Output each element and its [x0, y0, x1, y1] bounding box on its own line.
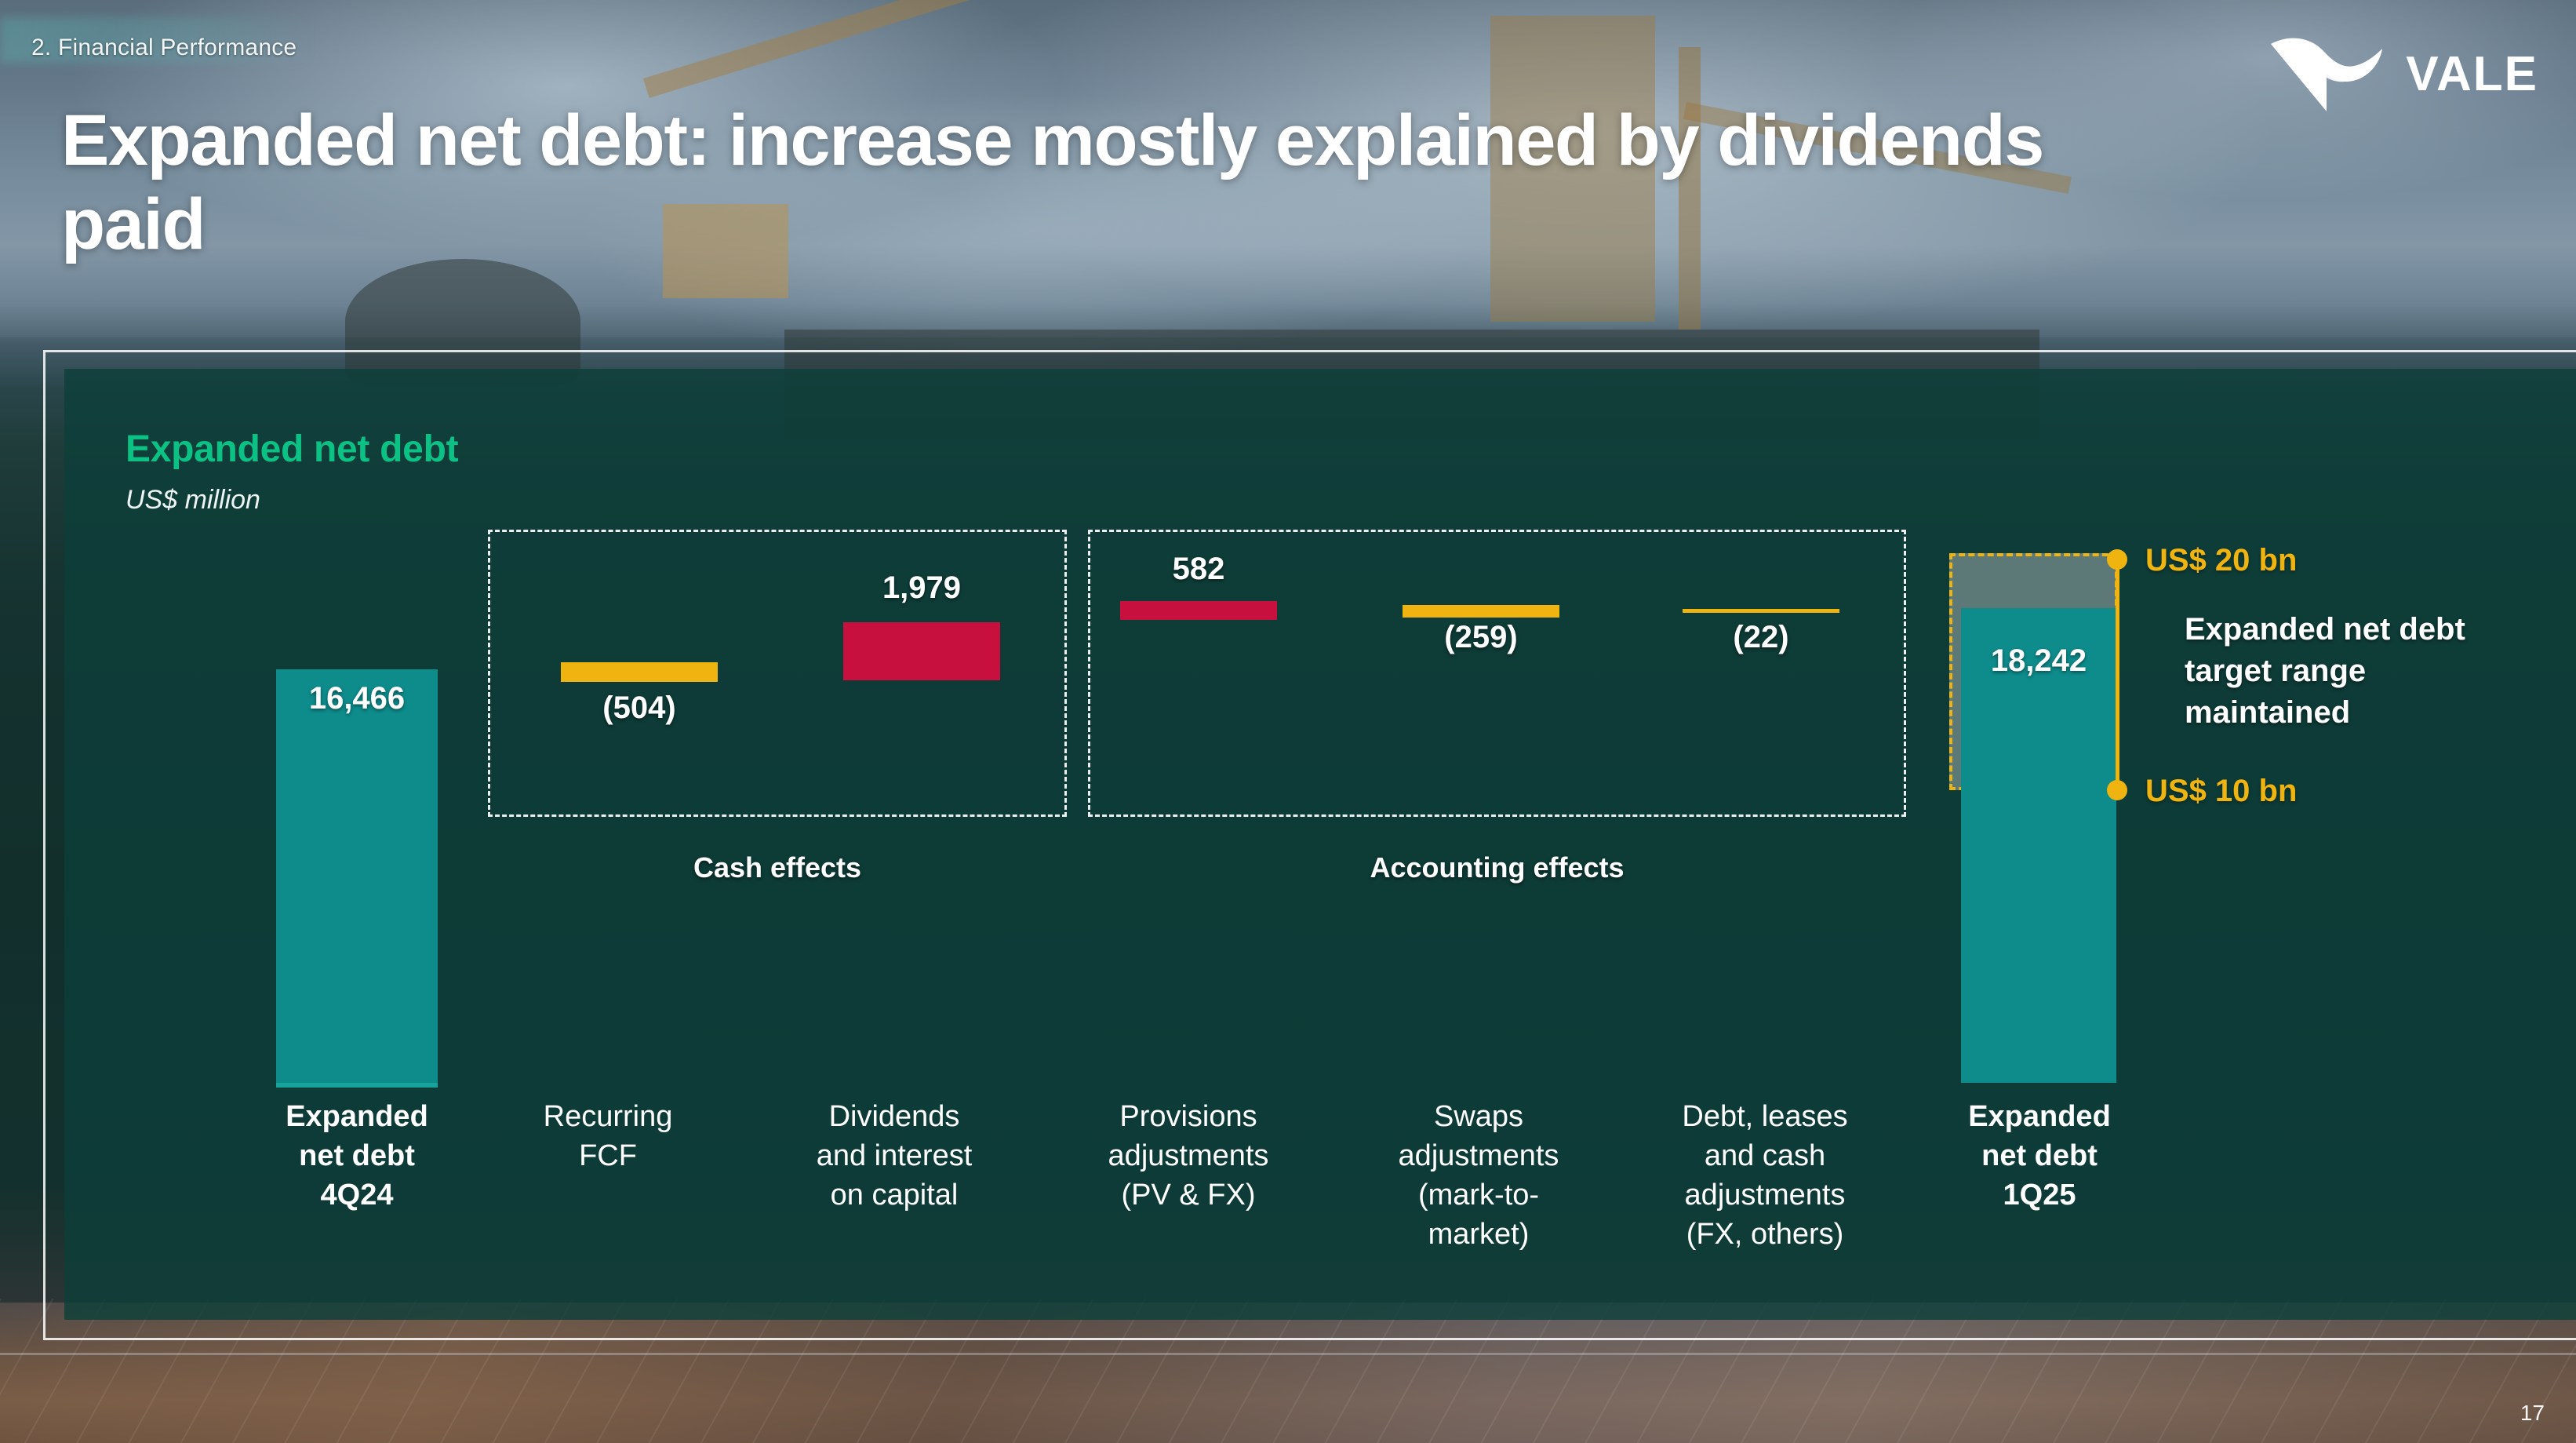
chart-title: Expanded net debt	[126, 428, 458, 471]
bar-recurring-fcf	[561, 662, 718, 682]
bar-value-recurring-fcf: (504)	[561, 691, 718, 726]
category-line: (mark-to-	[1365, 1175, 1592, 1215]
category-label-debt-leases-cash-adjustments: Debt, leases and cash adjustments (FX, o…	[1639, 1097, 1890, 1255]
category-line: net debt	[1934, 1136, 2145, 1175]
bar-expanded-net-debt-1q25	[1961, 608, 2116, 1083]
category-line: on capital	[780, 1175, 1008, 1215]
category-line: Dividends	[780, 1097, 1008, 1136]
category-line: (PV & FX)	[1075, 1175, 1302, 1215]
bar-expanded-net-debt-4q24	[276, 669, 438, 1083]
bar-value-debt-leases-cash-adjustments: (22)	[1683, 620, 1839, 655]
bar-value-expanded-net-debt-1q25: 18,242	[1961, 643, 2116, 679]
vale-bird-icon	[2268, 33, 2385, 115]
category-line: Swaps	[1365, 1097, 1592, 1136]
category-line: and cash	[1639, 1136, 1890, 1175]
bar-provisions-adjustments	[1120, 601, 1277, 620]
accounting-effects-label: Accounting effects	[1088, 851, 1906, 884]
page-number: 17	[2520, 1401, 2545, 1426]
target-upper-dot-icon	[2107, 549, 2127, 570]
page-title: Expanded net debt: increase mostly expla…	[61, 99, 2179, 266]
category-line: 4Q24	[259, 1175, 455, 1215]
bar-swaps-adjustments	[1403, 605, 1559, 618]
bar-value-expanded-net-debt-4q24: 16,466	[276, 681, 438, 716]
vale-logo: VALE	[2268, 33, 2538, 115]
target-range-note: Expanded net debt target range maintaine…	[2185, 609, 2522, 733]
category-line: market)	[1365, 1215, 1592, 1254]
cash-effects-label: Cash effects	[488, 851, 1067, 884]
category-line: and interest	[780, 1136, 1008, 1175]
category-line: FCF	[502, 1136, 714, 1175]
section-eyebrow: 2. Financial Performance	[31, 35, 297, 61]
target-upper-label: US$ 20 bn	[2145, 543, 2297, 578]
bar-value-provisions-adjustments: 582	[1120, 552, 1277, 587]
category-line: Debt, leases	[1639, 1097, 1890, 1136]
bar-debt-leases-cash-adjustments	[1683, 609, 1839, 613]
bar-value-swaps-adjustments: (259)	[1403, 620, 1559, 655]
category-line: adjustments	[1365, 1136, 1592, 1175]
category-label-recurring-fcf: Recurring FCF	[502, 1097, 714, 1175]
category-line: 1Q25	[1934, 1175, 2145, 1215]
category-line: adjustments	[1639, 1175, 1890, 1215]
category-line: adjustments	[1075, 1136, 1302, 1175]
category-label-expanded-net-debt-4q24: Expanded net debt 4Q24	[259, 1097, 455, 1215]
vale-wordmark: VALE	[2406, 46, 2538, 102]
category-label-provisions-adjustments: Provisions adjustments (PV & FX)	[1075, 1097, 1302, 1215]
bar-baseline-accent-4q24	[276, 1083, 438, 1088]
target-lower-label: US$ 10 bn	[2145, 774, 2297, 809]
target-lower-dot-icon	[2107, 780, 2127, 800]
category-line: Expanded	[259, 1097, 455, 1136]
target-range-vertical-line	[2116, 559, 2119, 790]
category-line: Recurring	[502, 1097, 714, 1136]
category-line: Expanded	[1934, 1097, 2145, 1136]
chart-subtitle: US$ million	[126, 485, 260, 516]
category-line: net debt	[259, 1136, 455, 1175]
bar-value-dividends-interest-on-capital: 1,979	[843, 570, 1000, 606]
category-label-swaps-adjustments: Swaps adjustments (mark-to- market)	[1365, 1097, 1592, 1255]
category-label-expanded-net-debt-1q25: Expanded net debt 1Q25	[1934, 1097, 2145, 1215]
category-line: Provisions	[1075, 1097, 1302, 1136]
slide-root: 2. Financial Performance Expanded net de…	[0, 0, 2576, 1443]
category-label-dividends-interest-on-capital: Dividends and interest on capital	[780, 1097, 1008, 1215]
bar-dividends-interest-on-capital	[843, 622, 1000, 680]
category-line: (FX, others)	[1639, 1215, 1890, 1254]
